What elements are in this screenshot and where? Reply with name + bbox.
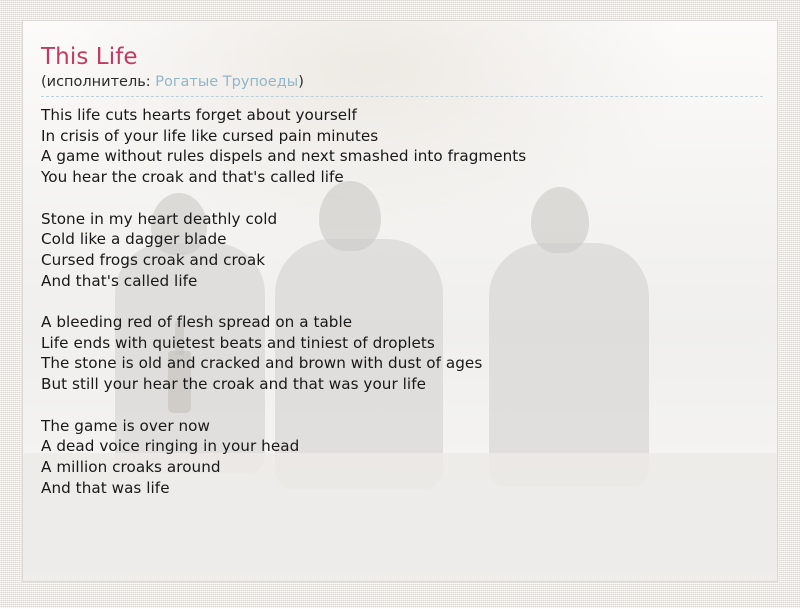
lyric-line: The game is over now xyxy=(41,416,759,437)
card-content: This Life (исполнитель: Рогатые Трупоеды… xyxy=(23,21,777,498)
lyric-line: The stone is old and cracked and brown w… xyxy=(41,353,759,374)
lyric-line: A game without rules dispels and next sm… xyxy=(41,146,759,167)
artist-line: (исполнитель: Рогатые Трупоеды) xyxy=(41,73,759,92)
lyric-line: You hear the croak and that's called lif… xyxy=(41,167,759,188)
title-divider xyxy=(41,96,763,97)
artist-link[interactable]: Рогатые Трупоеды xyxy=(155,74,298,90)
artist-suffix-label: ) xyxy=(298,74,304,90)
stanza-gap xyxy=(41,291,759,312)
lyric-line: And that was life xyxy=(41,478,759,499)
lyric-line: But still your hear the croak and that w… xyxy=(41,374,759,395)
lyric-line: This life cuts hearts forget about yours… xyxy=(41,105,759,126)
lyric-line: A million croaks around xyxy=(41,457,759,478)
stanza-gap xyxy=(41,395,759,416)
song-lyrics-card: This Life (исполнитель: Рогатые Трупоеды… xyxy=(22,20,778,582)
lyric-line: A dead voice ringing in your head xyxy=(41,436,759,457)
page-title: This Life xyxy=(41,43,759,71)
lyric-line: Life ends with quietest beats and tinies… xyxy=(41,333,759,354)
lyric-line: Cursed frogs croak and croak xyxy=(41,250,759,271)
lyric-line: A bleeding red of flesh spread on a tabl… xyxy=(41,312,759,333)
artist-prefix-label: (исполнитель: xyxy=(41,74,155,90)
lyrics-body: This life cuts hearts forget about yours… xyxy=(41,105,759,498)
lyric-line: In crisis of your life like cursed pain … xyxy=(41,126,759,147)
lyric-line: Stone in my heart deathly cold xyxy=(41,209,759,230)
lyric-line: And that's called life xyxy=(41,271,759,292)
lyric-line: Cold like a dagger blade xyxy=(41,229,759,250)
stanza-gap xyxy=(41,188,759,209)
